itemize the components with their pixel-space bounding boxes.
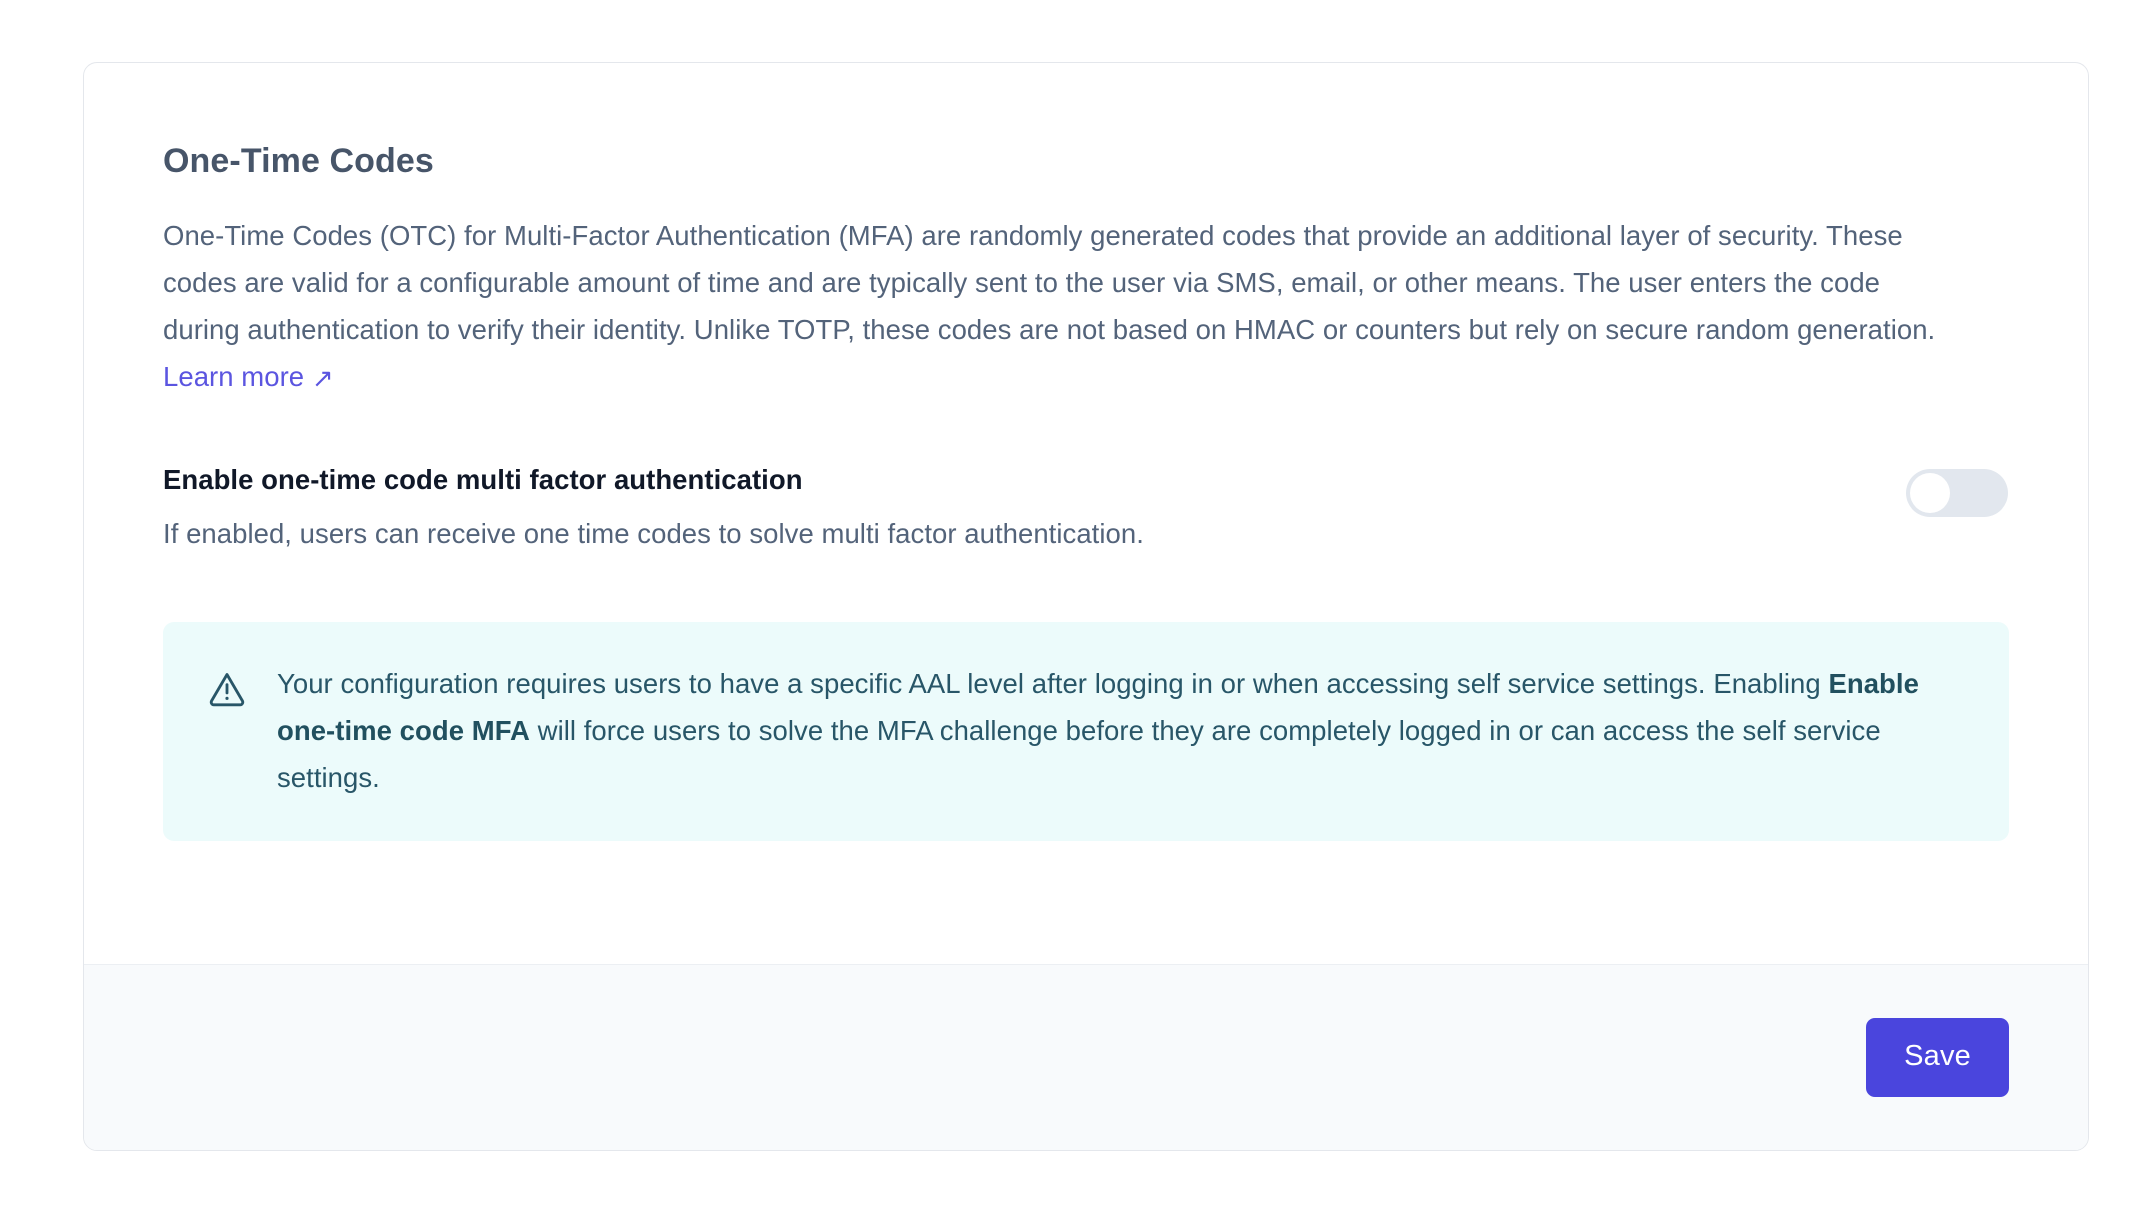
- setting-label: Enable one-time code multi factor authen…: [163, 463, 1866, 497]
- toggle-knob: [1910, 473, 1950, 513]
- enable-one-time-code-mfa-toggle[interactable]: [1906, 469, 2008, 517]
- learn-more-link[interactable]: Learn more ↗: [163, 361, 334, 392]
- card-body: One-Time Codes One-Time Codes (OTC) for …: [84, 63, 2088, 964]
- setting-help-text: If enabled, users can receive one time c…: [163, 517, 1866, 551]
- callout-text-part-1: Your configuration requires users to hav…: [277, 668, 1828, 699]
- external-link-arrow-icon: ↗: [312, 365, 334, 391]
- setting-row-one-time-code-mfa: Enable one-time code multi factor authen…: [163, 463, 2009, 552]
- callout-text: Your configuration requires users to hav…: [277, 660, 1937, 801]
- aal-warning-callout: Your configuration requires users to hav…: [163, 622, 2009, 841]
- page-title: One-Time Codes: [163, 141, 2009, 182]
- one-time-codes-card: One-Time Codes One-Time Codes (OTC) for …: [83, 62, 2089, 1151]
- settings-page: One-Time Codes One-Time Codes (OTC) for …: [0, 0, 2146, 1218]
- setting-texts: Enable one-time code multi factor authen…: [163, 463, 1866, 552]
- warning-triangle-icon: [207, 669, 247, 709]
- card-footer: Save: [84, 964, 2088, 1150]
- learn-more-label: Learn more: [163, 361, 304, 392]
- card-description-text: One-Time Codes (OTC) for Multi-Factor Au…: [163, 220, 1935, 345]
- save-button[interactable]: Save: [1866, 1018, 2009, 1097]
- card-description: One-Time Codes (OTC) for Multi-Factor Au…: [163, 212, 1953, 400]
